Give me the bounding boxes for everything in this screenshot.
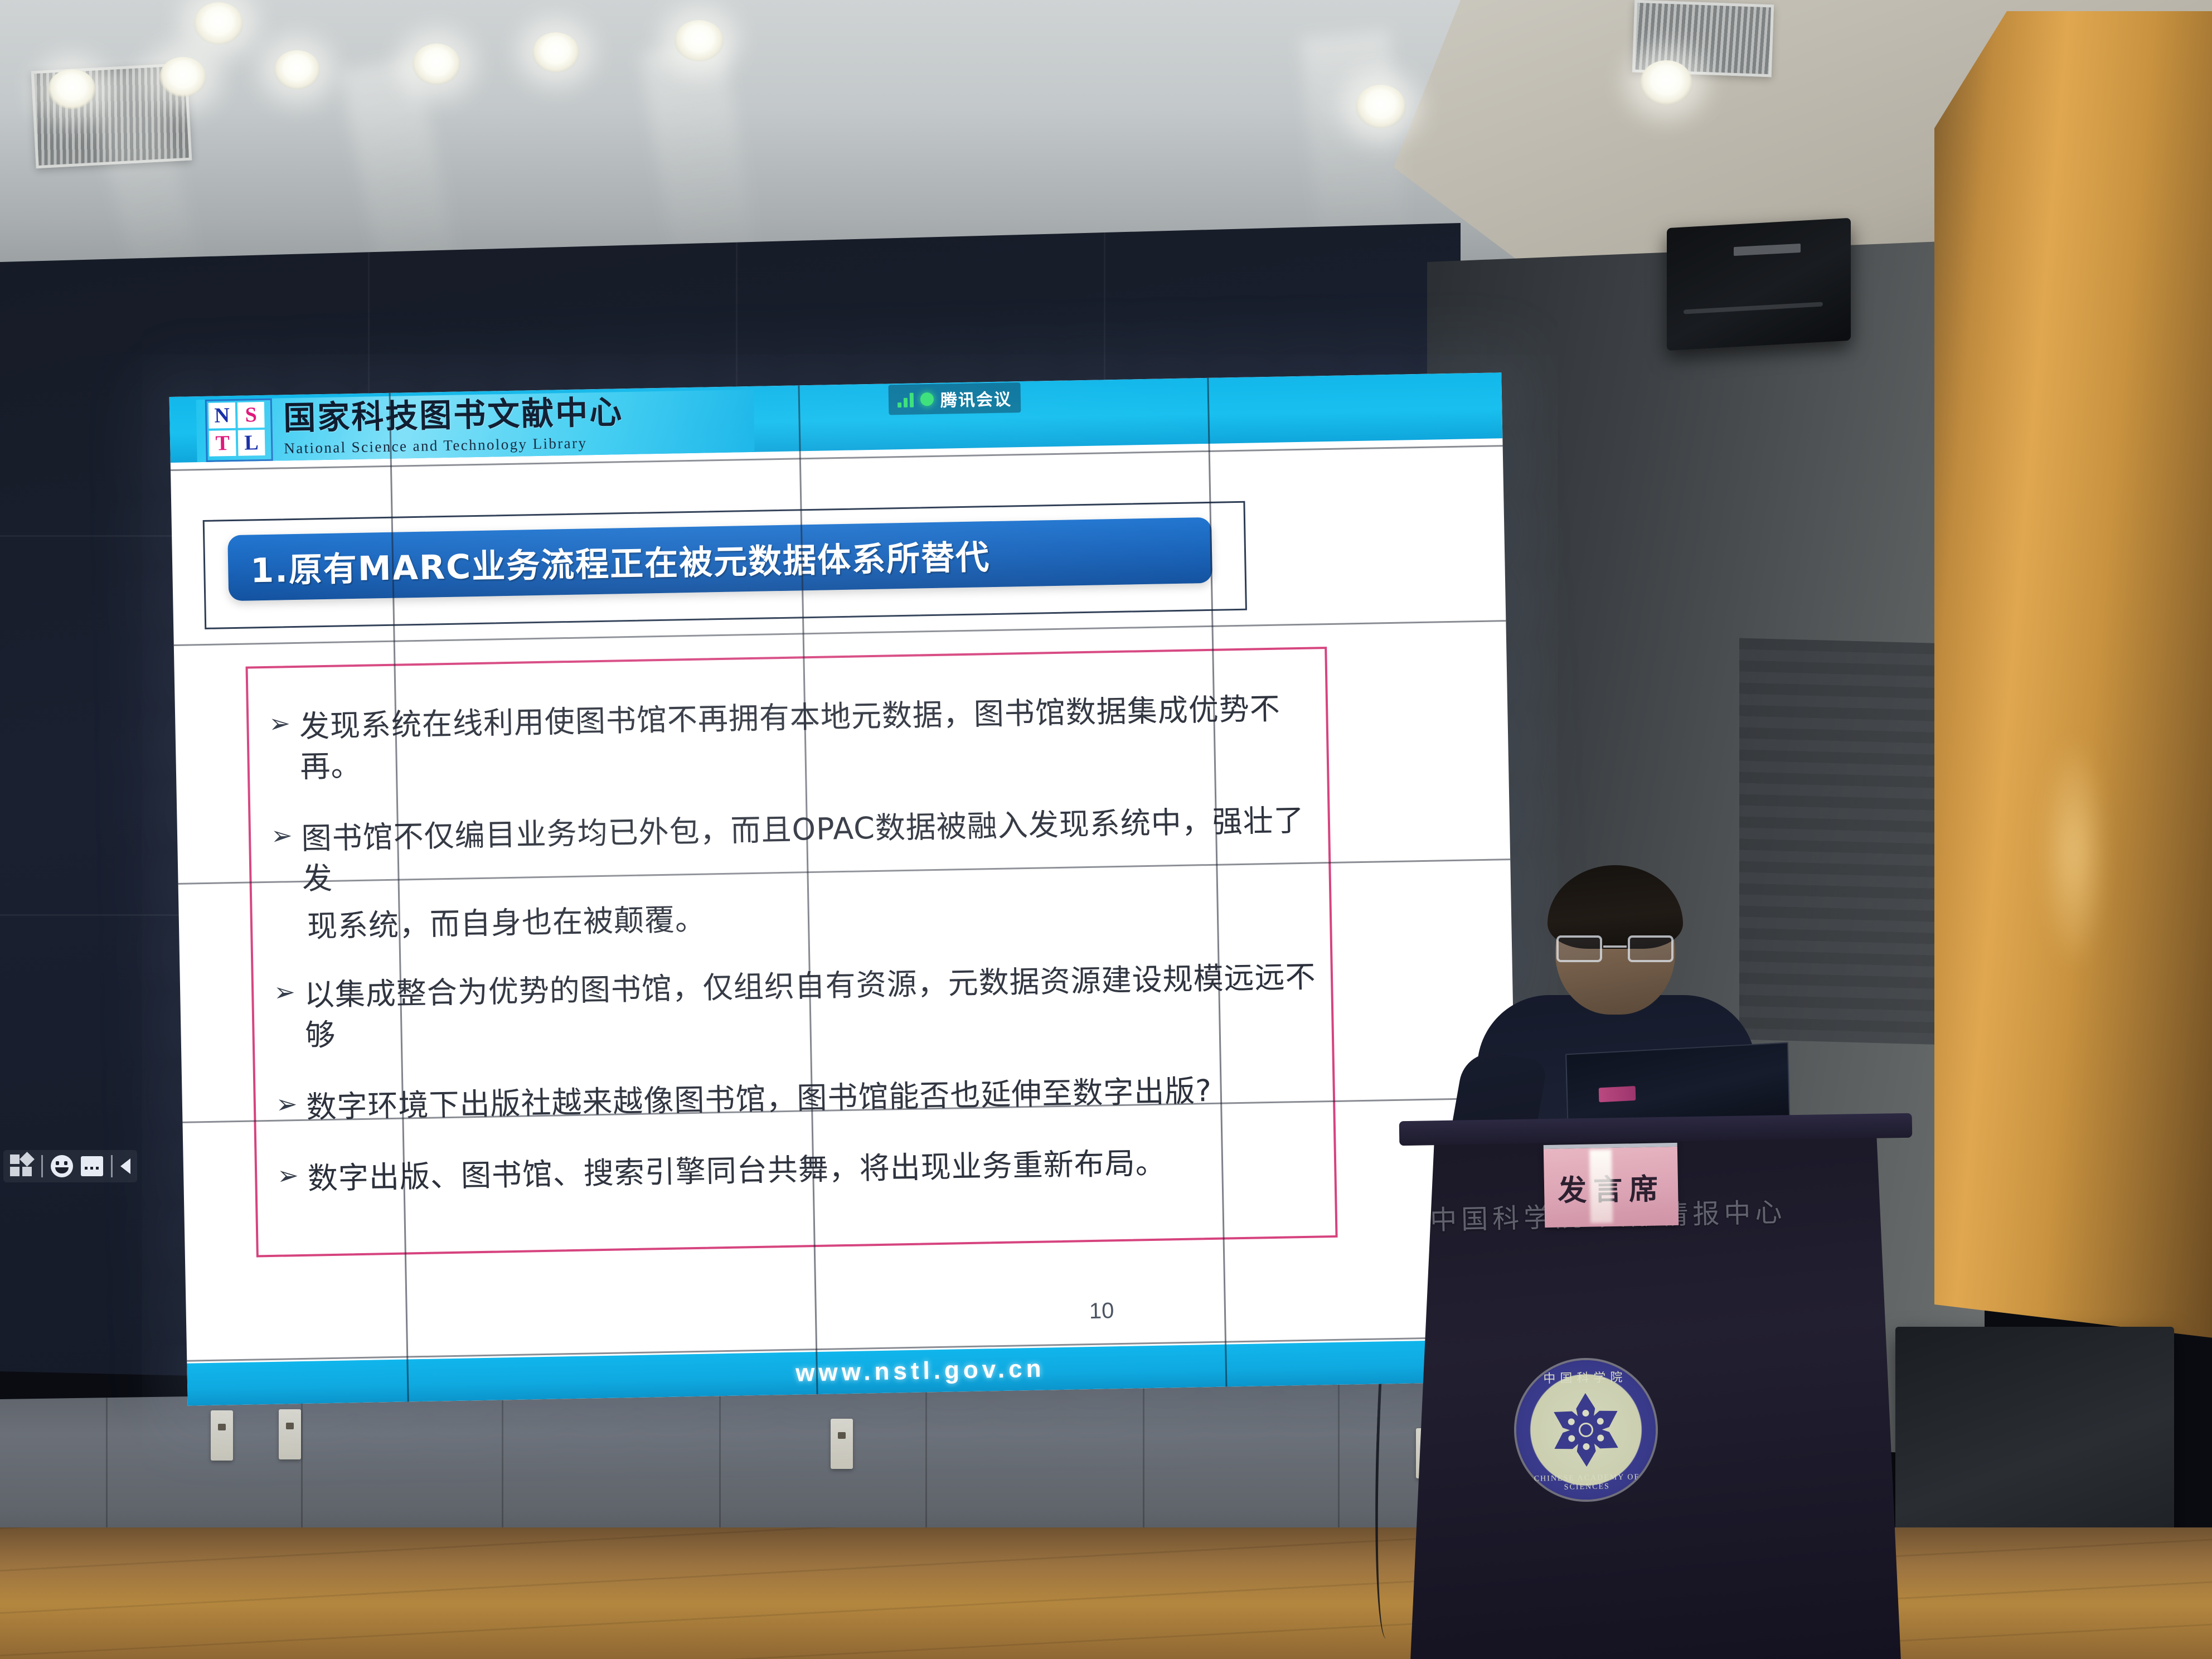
ceiling-downlight xyxy=(159,57,206,97)
projection-screen: N S T L 国家科技图书文献中心 National Science and … xyxy=(169,372,1520,1405)
page-title: 1.原有MARC业务流程正在被元数据体系所替代 xyxy=(250,530,990,592)
cas-emblem-en: CHINESE ACADEMY OF SCIENCES xyxy=(1517,1473,1657,1493)
podium-sign-glare xyxy=(1589,1149,1613,1224)
tencent-meeting-badge: 腾讯会议 xyxy=(888,382,1021,415)
more-menu-icon[interactable] xyxy=(81,1156,103,1176)
nstl-letter-n: N xyxy=(208,402,236,429)
apps-grid-icon[interactable] xyxy=(10,1154,33,1178)
laptop-logo xyxy=(1599,1086,1636,1102)
list-item: ➢ 图书馆不仅编目业务均已外包，而且OPAC数据被融入发现系统中，强壮了发 xyxy=(271,800,1331,900)
list-item: ➢ 以集成整合为优势的图书馆，仅组织自有资源，元数据资源建设规模远远不够 xyxy=(274,957,1334,1057)
arrow-bullet-icon: ➢ xyxy=(274,979,295,1005)
footer-website-url: www.nstl.gov.cn xyxy=(795,1355,1045,1388)
wood-column xyxy=(1934,11,2212,1338)
collapse-chevron-icon[interactable] xyxy=(120,1158,130,1174)
glasses-icon xyxy=(1556,935,1673,964)
nstl-letter-l: L xyxy=(238,430,265,456)
ceiling-downlight xyxy=(48,69,96,109)
ceiling-downlight xyxy=(532,32,579,72)
arrow-bullet-icon: ➢ xyxy=(269,710,290,736)
list-item: ➢ 数字出版、图书馆、搜索引擎同台共舞，将出现业务重新布局。 xyxy=(277,1140,1337,1200)
nstl-org-names: 国家科技图书文献中心 National Science and Technolo… xyxy=(283,395,624,457)
org-name-cn: 国家科技图书文献中心 xyxy=(283,395,624,435)
meeting-app-label: 腾讯会议 xyxy=(940,385,1012,411)
ceiling-downlight xyxy=(413,43,460,85)
toolbar-divider xyxy=(41,1155,43,1177)
annotation-toolbar[interactable] xyxy=(3,1150,137,1182)
arrow-bullet-icon: ➢ xyxy=(277,1162,299,1189)
nstl-logo-icon: N S T L xyxy=(208,402,270,459)
org-name-en: National Science and Technology Library xyxy=(284,434,624,457)
conference-hall-photo: N S T L 国家科技图书文献中心 National Science and … xyxy=(0,0,2212,1659)
cas-emblem-cn: 中国科学院 xyxy=(1515,1367,1655,1387)
cas-flower-icon xyxy=(1549,1393,1623,1467)
bullet-text-continuation: 现系统，而自身也在被颠覆。 xyxy=(307,888,1332,947)
ceiling-downlight xyxy=(675,20,724,61)
cas-emblem-icon: 中国科学院 CHINESE ACADEMY OF SCIENCES xyxy=(1515,1359,1657,1501)
list-item: ➢ 数字环境下出版社越来越像图书馆，图书馆能否也延伸至数字出版? xyxy=(275,1068,1335,1128)
bullet-text: 数字出版、图书馆、搜索引擎同台共舞，将出现业务重新布局。 xyxy=(307,1143,1166,1199)
arrow-bullet-icon: ➢ xyxy=(275,1091,297,1117)
arrow-bullet-icon: ➢ xyxy=(271,822,293,848)
bullet-list: ➢ 发现系统在线利用使图书馆不再拥有本地元数据，图书馆数据集成优势不再。 ➢ 图… xyxy=(269,688,1337,1231)
wall-outlet xyxy=(279,1409,301,1459)
nstl-letter-s: S xyxy=(237,402,265,428)
wood-column-highlight xyxy=(2040,736,2107,970)
slide-number: 10 xyxy=(1089,1298,1114,1324)
bullet-text: 以集成整合为优势的图书馆，仅组织自有资源，元数据资源建设规模远远不够 xyxy=(304,957,1334,1056)
toolbar-divider xyxy=(111,1155,113,1177)
annotation-smiley-icon[interactable] xyxy=(51,1155,73,1177)
ceiling-downlight xyxy=(1640,60,1692,105)
ceiling-downlight xyxy=(194,2,243,45)
ceiling-downlight xyxy=(1356,85,1406,128)
nstl-logo-block: N S T L 国家科技图书文献中心 National Science and … xyxy=(196,390,755,462)
ceiling-downlight xyxy=(274,50,320,89)
bullet-text: 数字环境下出版社越来越像图书馆，图书馆能否也延伸至数字出版? xyxy=(306,1071,1212,1128)
wall-outlet xyxy=(831,1419,853,1469)
record-dot-icon xyxy=(920,392,934,406)
wall-speaker xyxy=(1667,218,1851,351)
slide-surface: N S T L 国家科技图书文献中心 National Science and … xyxy=(169,372,1520,1405)
bullet-text: 图书馆不仅编目业务均已外包，而且OPAC数据被融入发现系统中，强壮了发 xyxy=(301,800,1331,900)
nstl-letter-t: T xyxy=(209,430,236,457)
wall-outlet xyxy=(211,1410,233,1461)
signal-bars-icon xyxy=(898,392,914,408)
